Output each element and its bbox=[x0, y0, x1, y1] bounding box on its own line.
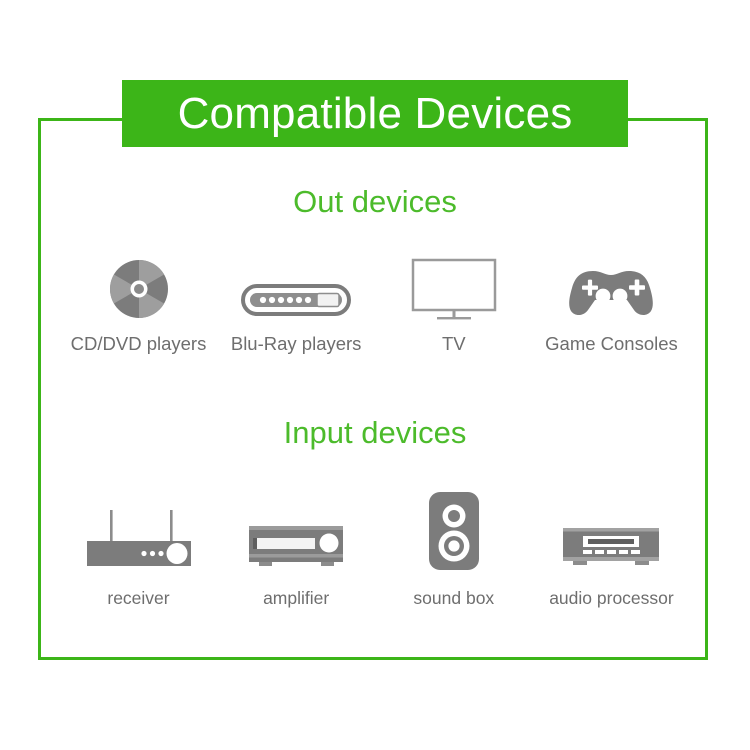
cd-dvd-disc-icon bbox=[108, 248, 170, 320]
device-tv: TV bbox=[375, 248, 532, 354]
banner: Compatible Devices bbox=[122, 80, 628, 147]
device-cd-dvd-players: CD/DVD players bbox=[60, 248, 217, 354]
device-amplifier: amplifier bbox=[218, 487, 375, 608]
input-devices-row: receiver amplifier bbox=[60, 487, 690, 608]
section-heading-out: Out devices bbox=[0, 186, 750, 217]
page-title: Compatible Devices bbox=[178, 92, 573, 136]
audio-processor-icon bbox=[559, 487, 663, 572]
device-label: amplifier bbox=[263, 588, 329, 608]
out-devices-row: CD/DVD players Blu-Ray players bbox=[60, 248, 690, 354]
section-heading-input: Input devices bbox=[0, 417, 750, 448]
device-label: receiver bbox=[107, 588, 169, 608]
av-receiver-icon bbox=[81, 487, 197, 572]
tv-monitor-icon bbox=[411, 248, 497, 320]
compatibility-infographic: Compatible Devices Out devices CD/DVD pl… bbox=[0, 0, 750, 750]
device-label: Blu-Ray players bbox=[231, 334, 362, 354]
device-label: sound box bbox=[413, 588, 494, 608]
blu-ray-player-icon bbox=[241, 248, 351, 320]
game-controller-icon bbox=[563, 248, 659, 320]
device-label: TV bbox=[442, 334, 466, 354]
device-label: Game Consoles bbox=[545, 334, 678, 354]
device-game-consoles: Game Consoles bbox=[533, 248, 690, 354]
device-receiver: receiver bbox=[60, 487, 217, 608]
device-label: CD/DVD players bbox=[71, 334, 207, 354]
device-blu-ray-players: Blu-Ray players bbox=[218, 248, 375, 354]
device-label: audio processor bbox=[549, 588, 674, 608]
device-sound-box: sound box bbox=[375, 487, 532, 608]
amplifier-icon bbox=[245, 487, 347, 572]
speaker-box-icon bbox=[426, 487, 482, 572]
device-audio-processor: audio processor bbox=[533, 487, 690, 608]
